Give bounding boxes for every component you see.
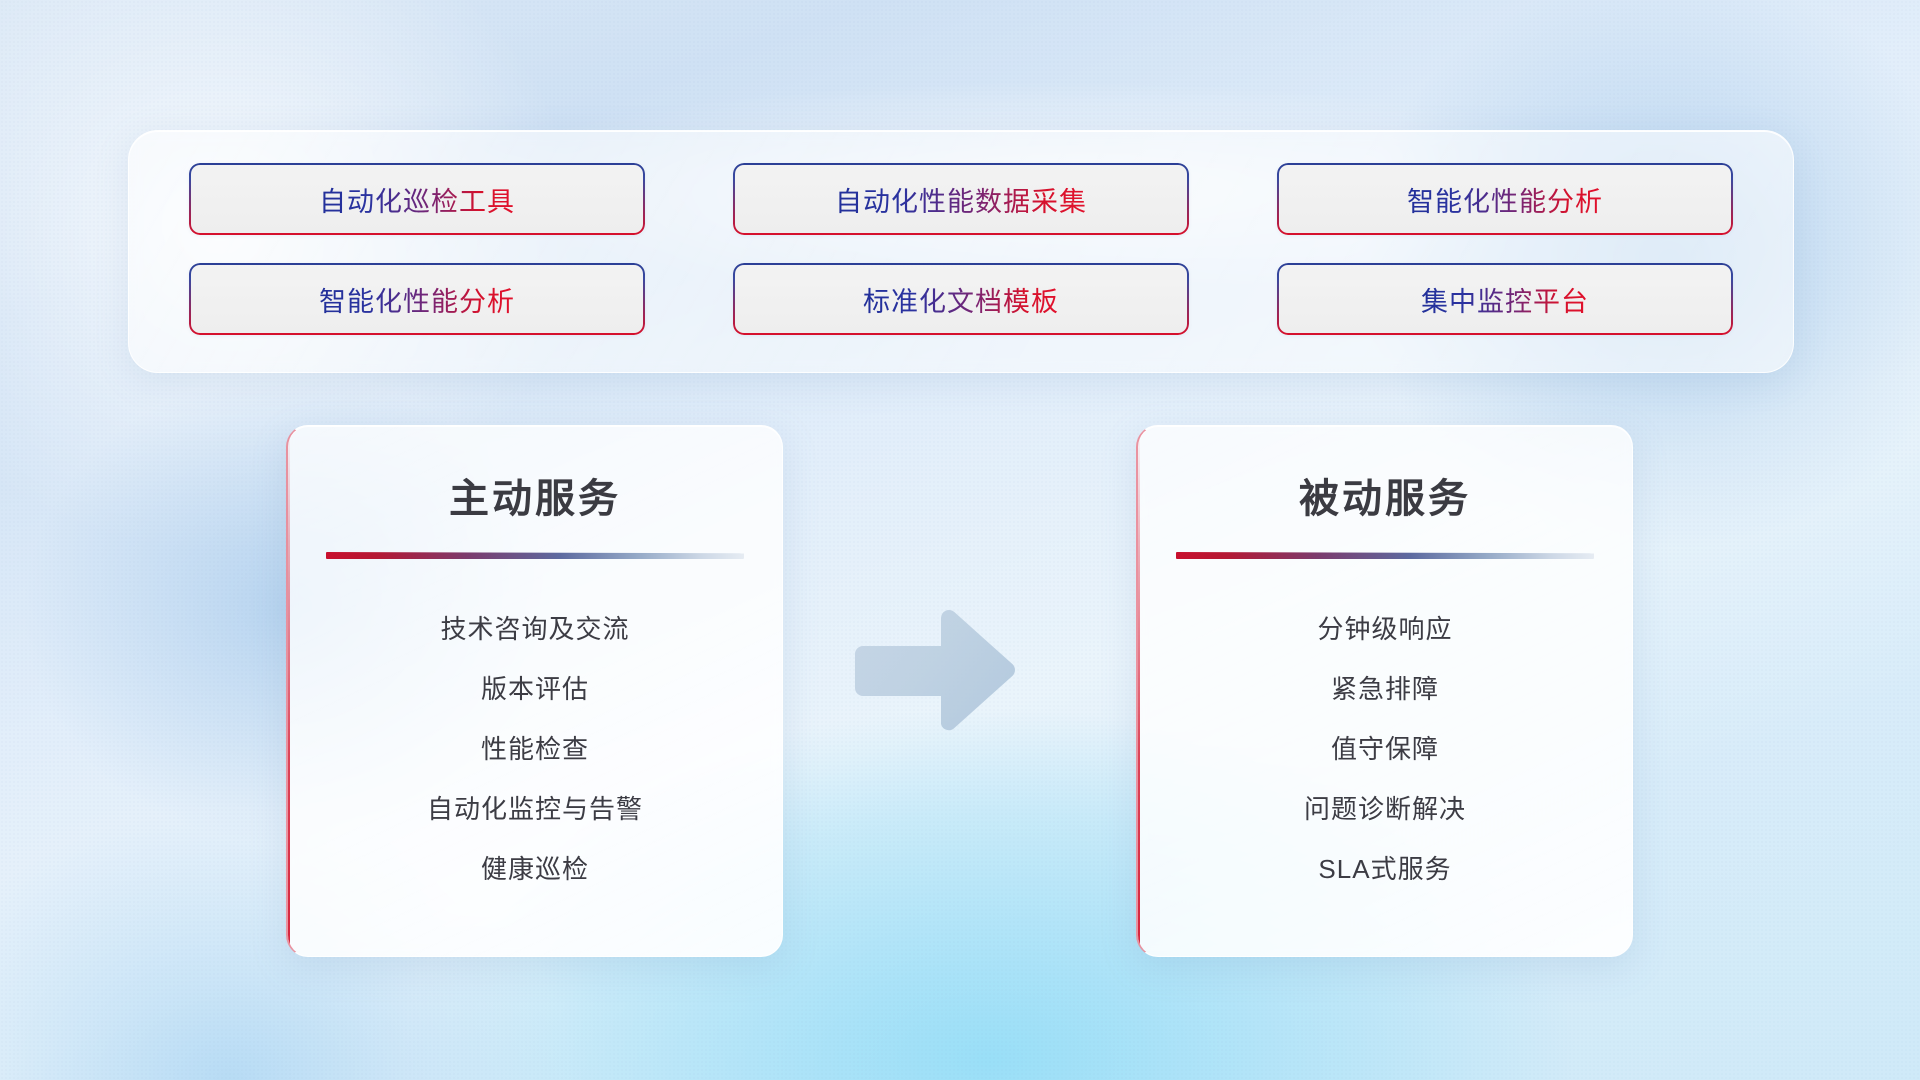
card-divider <box>1176 552 1594 559</box>
list-item: SLA式服务 <box>1138 839 1632 899</box>
capability-tag-label: 自动化巡检工具 <box>319 180 515 219</box>
capability-tag-label: 自动化性能数据采集 <box>835 180 1087 219</box>
capability-tag-1[interactable]: 自动化巡检工具 <box>189 163 645 235</box>
capability-tag-2[interactable]: 自动化性能数据采集 <box>733 163 1189 235</box>
list-item: 值守保障 <box>1138 719 1632 779</box>
list-item: 紧急排障 <box>1138 659 1632 719</box>
capability-tag-label: 标准化文档模板 <box>863 280 1059 319</box>
card-title: 被动服务 <box>1138 466 1632 524</box>
capability-tag-label: 智能化性能分析 <box>1407 180 1603 219</box>
capability-tag-grid: 自动化巡检工具 自动化性能数据采集 智能化性能分析 智能化性能分析 标准化文档模… <box>189 163 1733 340</box>
capability-tag-label: 集中监控平台 <box>1421 280 1589 319</box>
arrow-right-icon <box>855 610 1021 732</box>
service-card-proactive: 主动服务 技术咨询及交流 版本评估 性能检查 自动化监控与告警 健康巡检 <box>286 425 783 957</box>
list-item: 问题诊断解决 <box>1138 779 1632 839</box>
capability-tag-4[interactable]: 智能化性能分析 <box>189 263 645 335</box>
list-item: 版本评估 <box>288 659 782 719</box>
list-item: 性能检查 <box>288 719 782 779</box>
list-item: 自动化监控与告警 <box>288 779 782 839</box>
capability-tag-6[interactable]: 集中监控平台 <box>1277 263 1733 335</box>
capability-tag-3[interactable]: 智能化性能分析 <box>1277 163 1733 235</box>
card-title: 主动服务 <box>288 466 782 524</box>
card-list: 分钟级响应 紧急排障 值守保障 问题诊断解决 SLA式服务 <box>1138 599 1632 899</box>
capability-tag-5[interactable]: 标准化文档模板 <box>733 263 1189 335</box>
capability-tag-label: 智能化性能分析 <box>319 280 515 319</box>
card-list: 技术咨询及交流 版本评估 性能检查 自动化监控与告警 健康巡检 <box>288 599 782 899</box>
list-item: 技术咨询及交流 <box>288 599 782 659</box>
service-card-reactive: 被动服务 分钟级响应 紧急排障 值守保障 问题诊断解决 SLA式服务 <box>1136 425 1633 957</box>
list-item: 健康巡检 <box>288 839 782 899</box>
capability-panel: 自动化巡检工具 自动化性能数据采集 智能化性能分析 智能化性能分析 标准化文档模… <box>128 130 1794 373</box>
list-item: 分钟级响应 <box>1138 599 1632 659</box>
card-divider <box>326 552 744 559</box>
